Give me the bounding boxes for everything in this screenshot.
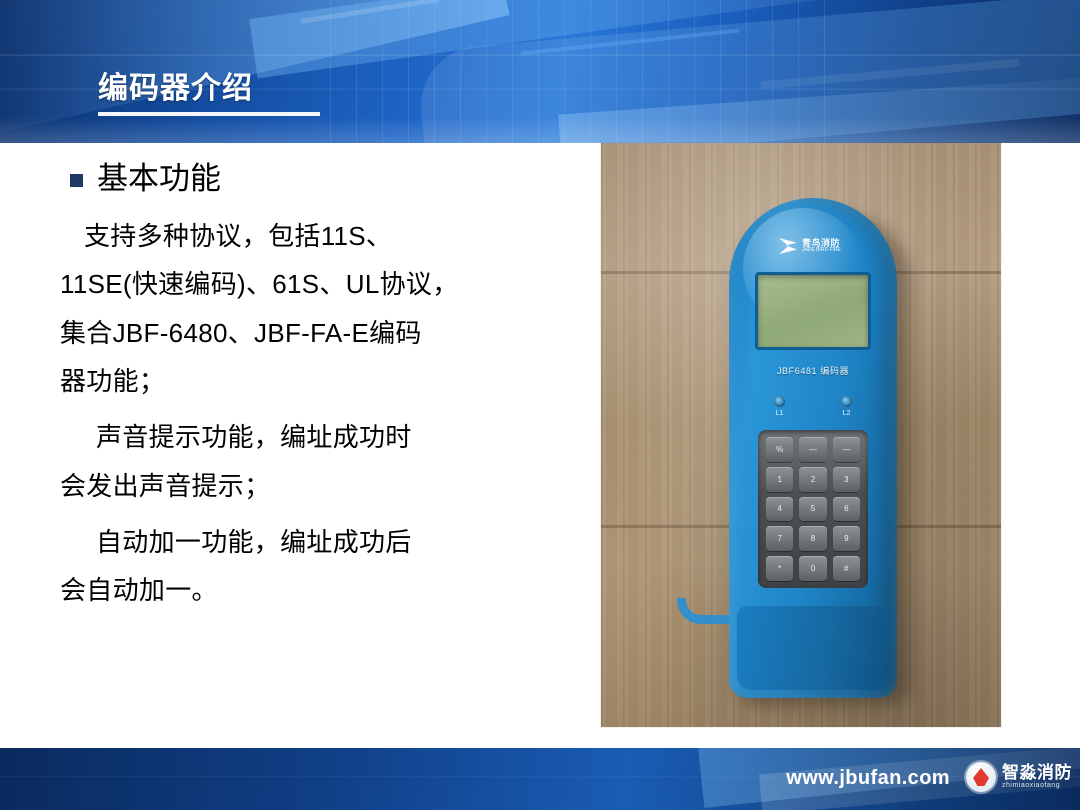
watermark-logo-icon — [966, 762, 996, 792]
keypad-key: 6 — [833, 497, 860, 522]
title-underline — [98, 112, 320, 116]
bullet-heading-row: 基本功能 — [70, 160, 580, 197]
watermark: 智淼消防 zhimiaoxiaofang — [966, 762, 1072, 792]
footer-swoosh-2 — [759, 748, 1080, 810]
encoder-device: 青鸟消防 JADE BIRD FIRE JBF6481 编码器 L1 L2 — [729, 198, 897, 698]
keypad-key: * — [766, 556, 793, 581]
keypad-key: 1 — [766, 467, 793, 492]
keypad-key: 2 — [799, 467, 826, 492]
keypad-key: 9 — [833, 526, 860, 551]
keypad-key: 5 — [799, 497, 826, 522]
banner-swoosh-3 — [416, 0, 1080, 143]
watermark-sub-label: zhimiaoxiaofang — [1002, 782, 1072, 789]
led-label-2: L2 — [843, 410, 851, 417]
keypad-key: % — [766, 437, 793, 462]
brand-bird-icon — [779, 238, 797, 254]
banner-grid-decoration — [330, 0, 830, 143]
banner-chip-2 — [520, 29, 739, 56]
banner-chip-3 — [760, 59, 1020, 90]
keypad-key: 4 — [766, 497, 793, 522]
paragraph-line-2: 11SE(快速编码)、61S、UL协议， — [60, 261, 580, 307]
device-keypad: % — — 1 2 3 4 5 6 7 8 9 * 0 # — [758, 430, 868, 588]
paragraph-line-3: 集合JBF-6480、JBF-FA-E编码 — [60, 310, 580, 356]
brand-logo-sub: JADE BIRD FIRE — [802, 248, 841, 253]
slide-footer: www.jbufan.com 智淼消防 zhimiaoxiaofang — [0, 748, 1080, 810]
banner-bottom-fade — [0, 117, 1080, 143]
device-lower-housing — [737, 606, 889, 690]
keypad-key: — — [799, 437, 826, 462]
paragraph-line-5: 声音提示功能，编址成功时 — [60, 414, 580, 460]
led-indicator-icon — [841, 396, 852, 407]
banner-swoosh-2 — [249, 0, 951, 78]
keypad-key: 0 — [799, 556, 826, 581]
page-title: 编码器介绍 — [98, 72, 320, 105]
device-lcd-screen — [755, 272, 871, 350]
device-led-2: L2 — [841, 396, 852, 417]
banner-chip-1 — [300, 0, 439, 24]
watermark-main-label: 智淼消防 — [1002, 764, 1072, 782]
banner-swoosh-1 — [0, 0, 510, 141]
bullet-heading-label: 基本功能 — [97, 160, 221, 197]
paragraph-line-6: 会发出声音提示； — [60, 463, 580, 509]
device-led-1: L1 — [774, 396, 785, 417]
keypad-key: 3 — [833, 467, 860, 492]
led-indicator-icon — [774, 396, 785, 407]
footer-swoosh-1 — [698, 748, 1080, 808]
footer-url: www.jbufan.com — [786, 767, 950, 790]
encoder-photo: 青鸟消防 JADE BIRD FIRE JBF6481 编码器 L1 L2 — [601, 143, 1001, 727]
paragraph-line-7: 自动加一功能，编址成功后 — [60, 519, 580, 565]
device-body: 青鸟消防 JADE BIRD FIRE JBF6481 编码器 L1 L2 — [729, 198, 897, 698]
slide-root: 编码器介绍 基本功能 支持多种协议，包括11S、 11SE(快速编码)、61S、… — [0, 0, 1080, 810]
keypad-key: 8 — [799, 526, 826, 551]
keypad-key: # — [833, 556, 860, 581]
paragraph-line-4: 器功能； — [60, 358, 580, 404]
brand-logo-text: 青鸟消防 JADE BIRD FIRE — [802, 239, 841, 254]
watermark-text: 智淼消防 zhimiaoxiaofang — [1002, 764, 1072, 789]
body-text-column: 基本功能 支持多种协议，包括11S、 11SE(快速编码)、61S、UL协议， … — [60, 160, 580, 615]
keypad-key: — — [833, 437, 860, 462]
device-brand-logo: 青鸟消防 JADE BIRD FIRE — [779, 234, 859, 258]
page-title-wrap: 编码器介绍 — [98, 72, 320, 116]
paragraph-line-1: 支持多种协议，包括11S、 — [60, 213, 580, 259]
device-led-row: L1 L2 — [729, 396, 897, 417]
bullet-square-icon — [70, 174, 83, 187]
banner-swoosh-4 — [558, 76, 1080, 143]
led-label-1: L1 — [776, 410, 784, 417]
device-model-label: JBF6481 编码器 — [729, 364, 897, 377]
paragraph-line-8: 会自动加一。 — [60, 567, 580, 613]
keypad-key: 7 — [766, 526, 793, 551]
